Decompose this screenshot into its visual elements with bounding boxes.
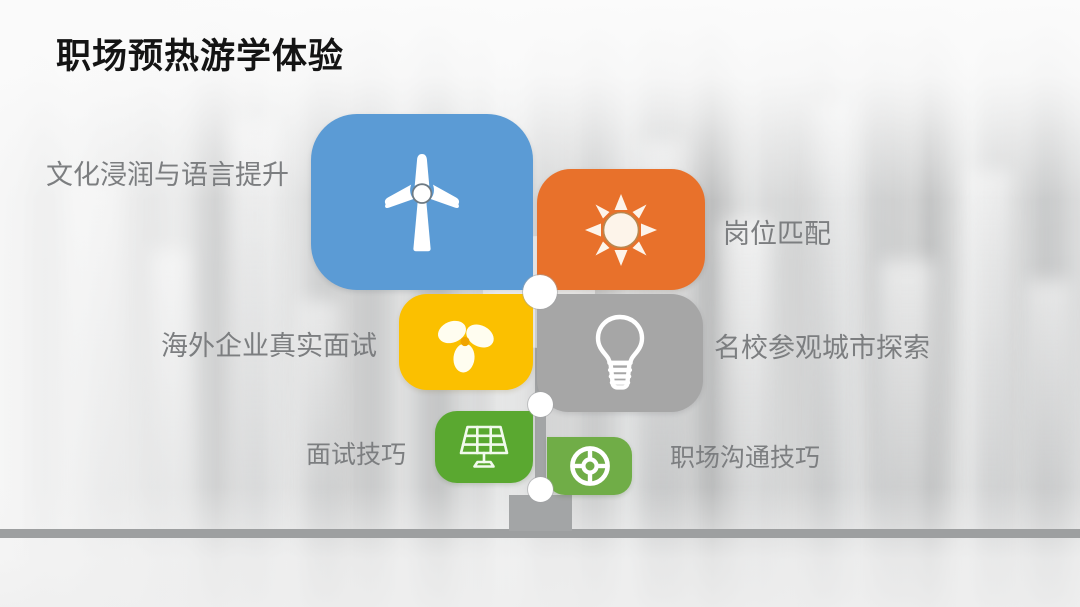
petal-interview-skills[interactable] <box>435 411 533 483</box>
petal-campus-city[interactable] <box>537 294 703 412</box>
lightbulb-icon <box>537 294 703 412</box>
wind-turbine-icon <box>311 114 533 290</box>
label-campus-city: 名校参观城市探索 <box>714 335 930 362</box>
label-job-match: 岗位匹配 <box>723 221 831 248</box>
petal-workplace-communication[interactable] <box>547 437 632 495</box>
sun-icon <box>537 169 705 290</box>
page-title: 职场预热游学体验 <box>56 36 344 78</box>
stem-node-bottom <box>528 477 553 502</box>
label-real-interview: 海外企业真实面试 <box>161 333 377 360</box>
stem-node-middle <box>528 392 553 417</box>
label-workplace-communication: 职场沟通技巧 <box>670 446 820 471</box>
petal-job-match[interactable] <box>537 169 705 290</box>
petal-real-interview[interactable] <box>399 294 533 390</box>
slide-canvas: 职场预热游学体验 <box>0 0 1080 607</box>
propeller-icon <box>399 294 533 390</box>
solar-panel-icon <box>435 411 533 483</box>
label-culture: 文化浸润与语言提升 <box>46 162 289 189</box>
petal-culture[interactable] <box>311 114 533 290</box>
center-node <box>523 275 557 309</box>
label-interview-skills: 面试技巧 <box>306 443 406 468</box>
life-ring-icon <box>547 437 632 495</box>
